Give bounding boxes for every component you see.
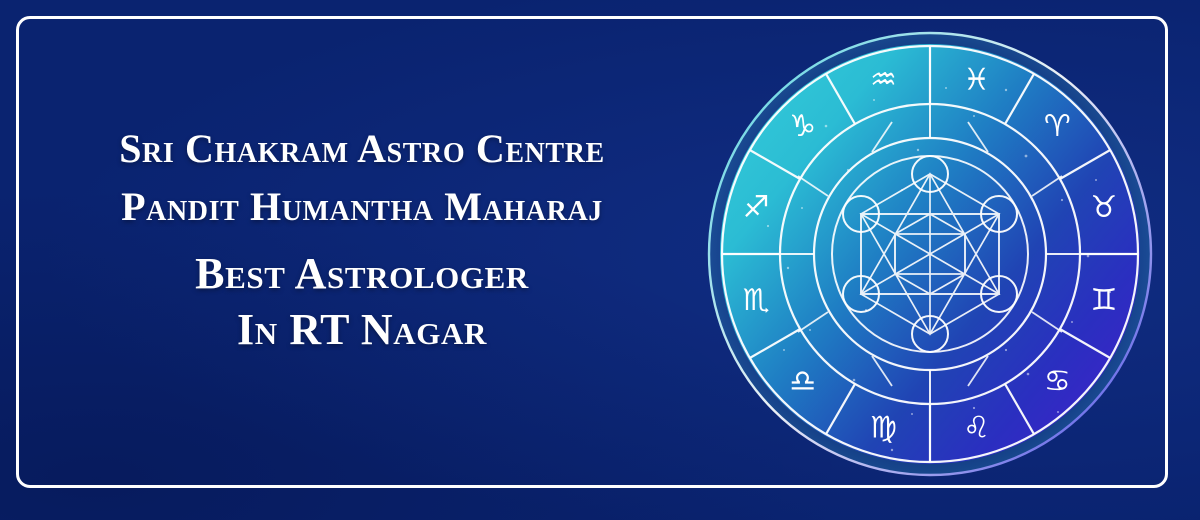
- zodiac-glyph-leo: ♌: [963, 410, 990, 445]
- zodiac-glyph-taurus: ♉: [1090, 190, 1117, 225]
- zodiac-glyph-sagittarius: ♐: [743, 190, 770, 225]
- astrology-banner: Sri Chakram Astro Centre Pandit Humantha…: [0, 0, 1200, 520]
- zodiac-wheel-svg: ♐♑♒♓♈♉♊♋♌♍♎♏: [706, 30, 1154, 478]
- zodiac-glyph-libra: ♎: [789, 364, 816, 399]
- zodiac-glyph-gemini: ♊: [1090, 283, 1117, 318]
- zodiac-glyph-pisces: ♓: [963, 63, 990, 98]
- headline-block: Sri Chakram Astro Centre Pandit Humantha…: [52, 120, 672, 358]
- astrologer-name-line: Pandit Humantha Maharaj: [52, 178, 672, 236]
- zodiac-glyph-cancer: ♋: [1044, 364, 1071, 399]
- tagline-line-1: Best Astrologer: [52, 236, 672, 302]
- business-name-line: Sri Chakram Astro Centre: [52, 120, 672, 178]
- metatrons-cube: [832, 156, 1028, 352]
- zodiac-glyph-virgo: ♍: [870, 410, 897, 445]
- zodiac-glyph-scorpio: ♏: [743, 283, 770, 318]
- tagline-line-2: In RT Nagar: [52, 302, 672, 358]
- zodiac-glyph-aquarius: ♒: [870, 63, 897, 98]
- zodiac-glyph-aries: ♈: [1044, 109, 1071, 144]
- zodiac-wheel: ♐♑♒♓♈♉♊♋♌♍♎♏: [706, 30, 1154, 478]
- zodiac-glyph-capricorn: ♑: [789, 109, 816, 144]
